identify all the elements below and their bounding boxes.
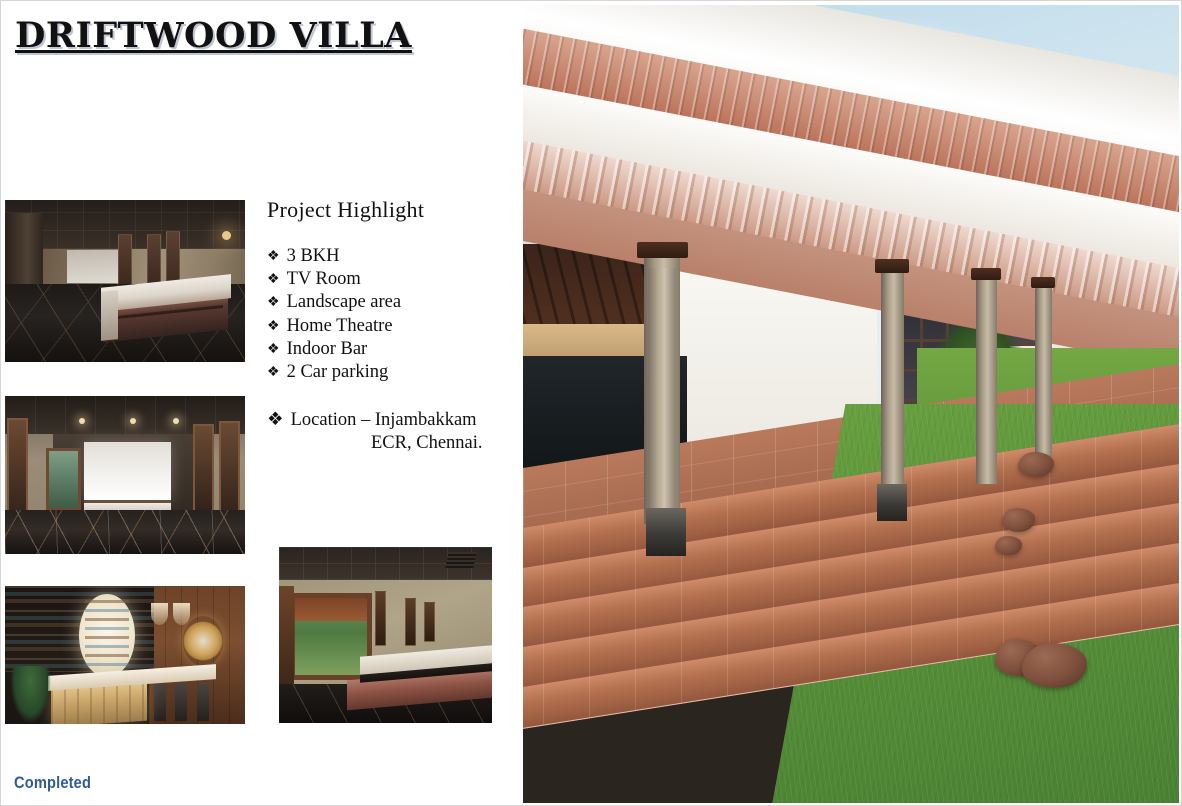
photo-interior-counter-garden-window xyxy=(279,547,492,723)
list-item: ❖ Landscape area xyxy=(267,291,517,314)
wall-niche xyxy=(405,598,417,646)
projection-screen xyxy=(84,442,170,500)
ceiling-vent xyxy=(446,552,477,568)
list-item-label: Home Theatre xyxy=(287,315,393,338)
list-item-label: Landscape area xyxy=(287,291,402,314)
diamond-bullet-icon: ❖ xyxy=(267,291,280,314)
wall-niche xyxy=(375,591,387,646)
photo-villa-exterior-courtyard xyxy=(523,5,1179,803)
list-item: ❖ Indoor Bar xyxy=(267,338,517,361)
location-line-2: ECR, Chennai. xyxy=(267,432,517,455)
ceiling-spotlight xyxy=(130,418,136,424)
location-block: ❖ Location – Injambakkam ECR, Chennai. xyxy=(267,409,517,455)
project-highlight-list: ❖ 3 BKH ❖ TV Room ❖ Landscape area ❖ Hom… xyxy=(267,245,517,384)
list-item: ❖ TV Room xyxy=(267,268,517,291)
column-base xyxy=(877,484,907,521)
diamond-bullet-icon: ❖ xyxy=(267,361,280,384)
potted-plant xyxy=(10,666,51,724)
circular-backlit-display xyxy=(79,594,134,677)
photo-indoor-bar xyxy=(5,586,245,724)
diamond-bullet-icon: ❖ xyxy=(267,268,280,291)
list-item-label: 2 Car parking xyxy=(287,361,389,384)
list-item: ❖ 2 Car parking xyxy=(267,361,517,384)
pendant-lamp xyxy=(151,603,168,625)
wall-lamp xyxy=(222,231,231,240)
list-item: ❖ 3 BKH xyxy=(267,245,517,268)
wall-panel xyxy=(193,424,214,516)
list-item-label: 3 BKH xyxy=(287,245,340,268)
granite-column xyxy=(1035,284,1052,460)
counter-pillar xyxy=(101,290,118,340)
wall-niche xyxy=(118,234,132,289)
boulder xyxy=(995,536,1021,555)
bar-stool xyxy=(154,683,166,722)
project-highlight-heading: Project Highlight xyxy=(267,197,424,223)
list-item: ❖ Location – Injambakkam xyxy=(267,409,517,432)
wall-niche xyxy=(424,602,436,643)
wall-panel xyxy=(219,421,240,523)
wooden-door xyxy=(279,586,294,695)
diamond-bullet-icon: ❖ xyxy=(267,409,284,432)
granite-column xyxy=(976,276,997,483)
status-badge: Completed xyxy=(14,773,91,793)
bar-stool xyxy=(175,683,187,722)
list-item-label: Indoor Bar xyxy=(287,338,368,361)
boulder xyxy=(1022,643,1088,688)
garden-window xyxy=(46,448,81,511)
granite-column xyxy=(881,268,905,499)
list-item-label: TV Room xyxy=(287,268,361,291)
photo-home-theatre-room xyxy=(5,396,245,554)
granite-column-shaft xyxy=(648,268,677,523)
sunburst-mirror xyxy=(183,616,224,666)
column-base xyxy=(646,508,685,556)
photo-dark-interior-bar-room xyxy=(5,200,245,362)
presentation-slide: DRIFTWOOD VILLA Project Highlight ❖ 3 BK… xyxy=(0,0,1182,806)
pendant-lamp xyxy=(173,603,190,625)
boulder xyxy=(1002,508,1035,532)
diamond-bullet-icon: ❖ xyxy=(267,245,280,268)
bar-stool xyxy=(197,683,209,722)
location-line-1: Location – Injambakkam xyxy=(291,409,477,432)
diamond-bullet-icon: ❖ xyxy=(267,338,280,361)
page-title: DRIFTWOOD VILLA xyxy=(15,15,495,56)
diamond-bullet-icon: ❖ xyxy=(267,315,280,338)
list-item: ❖ Home Theatre xyxy=(267,315,517,338)
patterned-marble-floor xyxy=(5,510,245,554)
